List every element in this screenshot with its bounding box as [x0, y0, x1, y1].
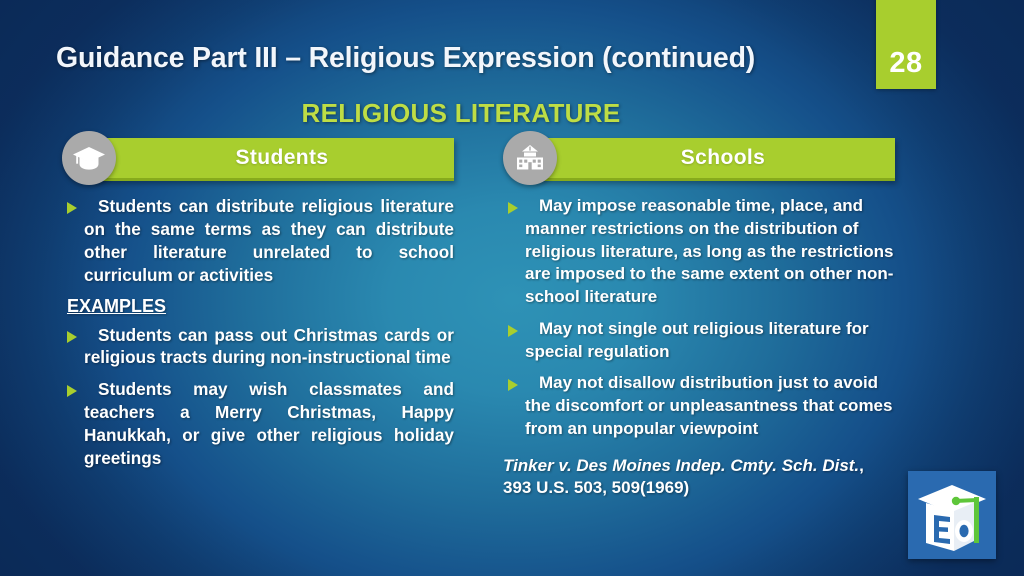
schools-body: May impose reasonable time, place, and m…: [503, 195, 895, 499]
slide-canvas: 28 Guidance Part III – Religious Express…: [0, 0, 1024, 576]
examples-label: EXAMPLES: [67, 296, 454, 317]
schools-bullet-2: May not single out religious literature …: [503, 318, 895, 364]
case-name: Tinker v. Des Moines Indep. Cmty. Sch. D…: [503, 456, 859, 475]
schools-header-bar: Schools: [531, 138, 895, 181]
graduation-cap-icon: [62, 131, 116, 185]
schools-header-label: Schools: [661, 146, 765, 170]
page-title: Guidance Part III – Religious Expression…: [56, 42, 856, 75]
column-schools: Schools May impose reasonable time, plac…: [503, 138, 895, 499]
students-header-bar: Students: [90, 138, 454, 181]
slide-subtitle: RELIGIOUS LITERATURE: [56, 98, 866, 129]
students-example-bullet-1: Students can pass out Christmas cards or…: [62, 324, 454, 370]
case-citation: Tinker v. Des Moines Indep. Cmty. Sch. D…: [503, 455, 895, 499]
students-header-label: Students: [215, 146, 328, 170]
students-example-bullet-2: Students may wish classmates and teacher…: [62, 378, 454, 470]
students-bullet-1: Students can distribute religious litera…: [62, 195, 454, 287]
page-number-text: 28: [889, 49, 922, 89]
column-students: Students Students can distribute religio…: [62, 138, 454, 479]
students-body: Students can distribute religious litera…: [62, 195, 454, 470]
us-department-of-education-logo: [908, 471, 996, 559]
page-number-badge: 28: [876, 0, 936, 89]
schools-bullet-3: May not disallow distribution just to av…: [503, 372, 895, 440]
schools-bullet-1: May impose reasonable time, place, and m…: [503, 195, 895, 309]
school-building-icon: [503, 131, 557, 185]
